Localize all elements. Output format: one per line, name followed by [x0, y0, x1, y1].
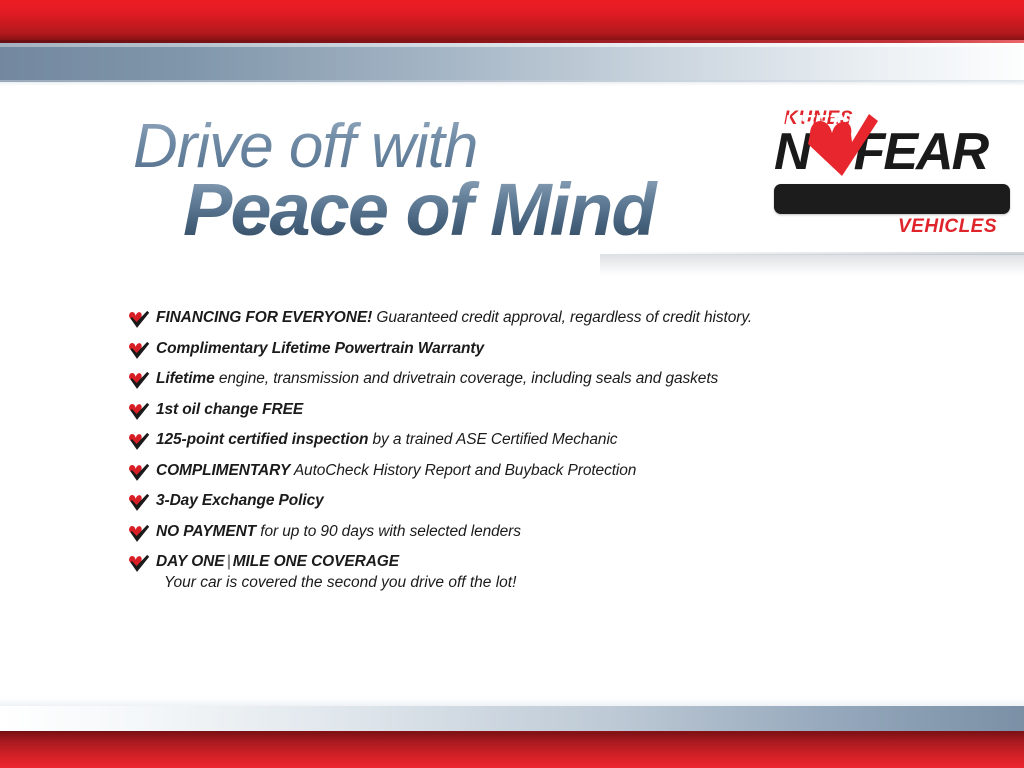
list-item-text: FINANCING FOR EVERYONE! Guaranteed credi…: [156, 308, 752, 328]
list-item: Complimentary Lifetime Powertrain Warran…: [128, 339, 928, 361]
top-red-stripe: [0, 0, 1024, 42]
day-one-subtext: Your car is covered the second you drive…: [164, 573, 516, 593]
list-item-text: 125-point certified inspection by a trai…: [156, 430, 617, 450]
list-item-text: DAY ONE|MILE ONE COVERAGE: [156, 552, 516, 572]
list-item: COMPLIMENTARY AutoCheck History Report a…: [128, 461, 928, 483]
bottom-gray-stripe: [0, 706, 1024, 733]
check-heart-icon: [128, 341, 150, 360]
list-item: 3-Day Exchange Policy: [128, 491, 928, 513]
top-banner: [0, 0, 1024, 84]
kunes-no-fear-logo: KUNES NFEAR LIFETIME CERTIFIED VEHICLES: [770, 108, 1014, 240]
header-divider-shadow: [600, 254, 1024, 276]
list-item-rest: engine, transmission and drivetrain cove…: [215, 370, 719, 387]
list-item-text: NO PAYMENT for up to 90 days with select…: [156, 522, 521, 542]
list-item-text: 1st oil change FREE: [156, 400, 303, 420]
list-item: Lifetime engine, transmission and drivet…: [128, 369, 928, 391]
list-item-bold: Lifetime: [156, 370, 215, 387]
check-heart-icon: [128, 524, 150, 543]
list-item-day-one: DAY ONE|MILE ONE COVERAGE Your car is co…: [128, 552, 928, 593]
list-item: NO PAYMENT for up to 90 days with select…: [128, 522, 928, 544]
red-check-heart-icon: [806, 114, 878, 176]
list-item-text: COMPLIMENTARY AutoCheck History Report a…: [156, 461, 636, 481]
promo-flyer: Drive off with Peace of Mind KUNES NFEAR…: [0, 0, 1024, 768]
check-heart-icon: [128, 310, 150, 329]
list-item-bold: 3-Day Exchange Policy: [156, 492, 324, 509]
bottom-red-stripe: [0, 732, 1024, 768]
list-item-bold: 1st oil change FREE: [156, 401, 303, 418]
check-heart-icon: [128, 493, 150, 512]
day-one-separator: |: [225, 553, 233, 570]
check-heart-icon: [128, 402, 150, 421]
top-gray-stripe: [0, 43, 1024, 82]
list-item-text: Complimentary Lifetime Powertrain Warran…: [156, 339, 484, 359]
check-heart-icon: [128, 463, 150, 482]
list-item: 1st oil change FREE: [128, 400, 928, 422]
mile-one-label: MILE ONE COVERAGE: [233, 553, 399, 570]
logo-letter-n: N: [774, 123, 810, 181]
list-item-rest: for up to 90 days with selected lenders: [256, 523, 521, 540]
list-item: FINANCING FOR EVERYONE! Guaranteed credi…: [128, 308, 928, 330]
list-item-bold: COMPLIMENTARY: [156, 462, 290, 479]
list-item-rest: Guaranteed credit approval, regardless o…: [372, 309, 752, 326]
logo-vehicles-text: VEHICLES: [898, 216, 997, 238]
day-one-block: DAY ONE|MILE ONE COVERAGE Your car is co…: [156, 552, 516, 593]
logo-lifetime-banner: [774, 184, 1010, 214]
check-heart-icon: [128, 432, 150, 451]
headline-block: Drive off with Peace of Mind: [133, 118, 753, 247]
day-one-label: DAY ONE: [156, 553, 225, 570]
check-heart-icon: [128, 554, 150, 573]
list-item-rest: AutoCheck History Report and Buyback Pro…: [290, 462, 636, 479]
list-item-bold: 125-point certified inspection: [156, 431, 368, 448]
list-item-text: Lifetime engine, transmission and drivet…: [156, 369, 718, 389]
headline-line-2: Peace of Mind: [183, 173, 753, 247]
bottom-banner: [0, 688, 1024, 768]
benefits-list: FINANCING FOR EVERYONE! Guaranteed credi…: [128, 308, 928, 602]
list-item-text: 3-Day Exchange Policy: [156, 491, 324, 511]
list-item: 125-point certified inspection by a trai…: [128, 430, 928, 452]
check-heart-icon: [128, 371, 150, 390]
top-gray-highlight: [0, 43, 1024, 47]
top-gray-fade: [0, 80, 1024, 86]
list-item-rest: by a trained ASE Certified Mechanic: [368, 431, 617, 448]
list-item-bold: FINANCING FOR EVERYONE!: [156, 309, 372, 326]
list-item-bold: Complimentary Lifetime Powertrain Warran…: [156, 340, 484, 357]
list-item-bold: NO PAYMENT: [156, 523, 256, 540]
